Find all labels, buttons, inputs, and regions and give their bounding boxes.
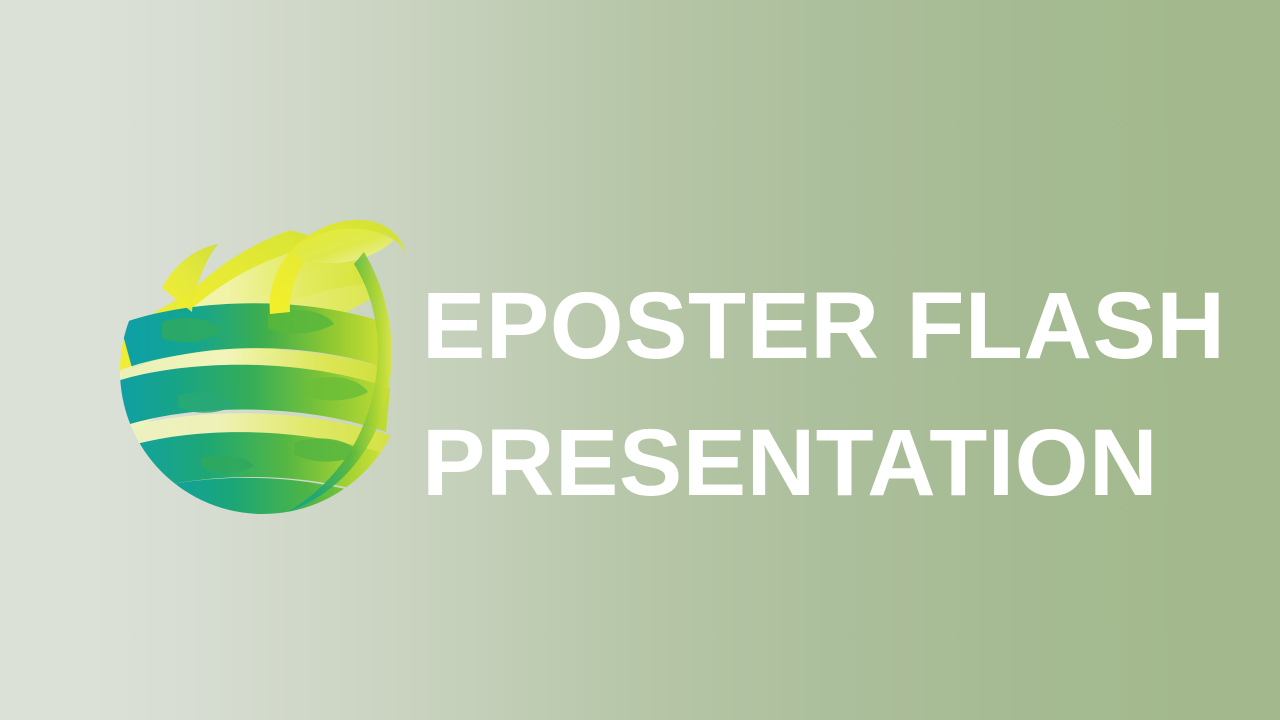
globe-bands <box>118 206 408 514</box>
leaf-curl <box>294 229 394 264</box>
title-line-1: EPOSTER FLASH <box>422 258 1212 395</box>
title-slide: EPOSTER FLASH PRESENTATION <box>0 0 1280 720</box>
slide-title: EPOSTER FLASH PRESENTATION <box>422 258 1212 532</box>
title-line-2: PRESENTATION <box>422 395 1212 532</box>
spiral-ribbon-globe-logo <box>118 206 408 514</box>
